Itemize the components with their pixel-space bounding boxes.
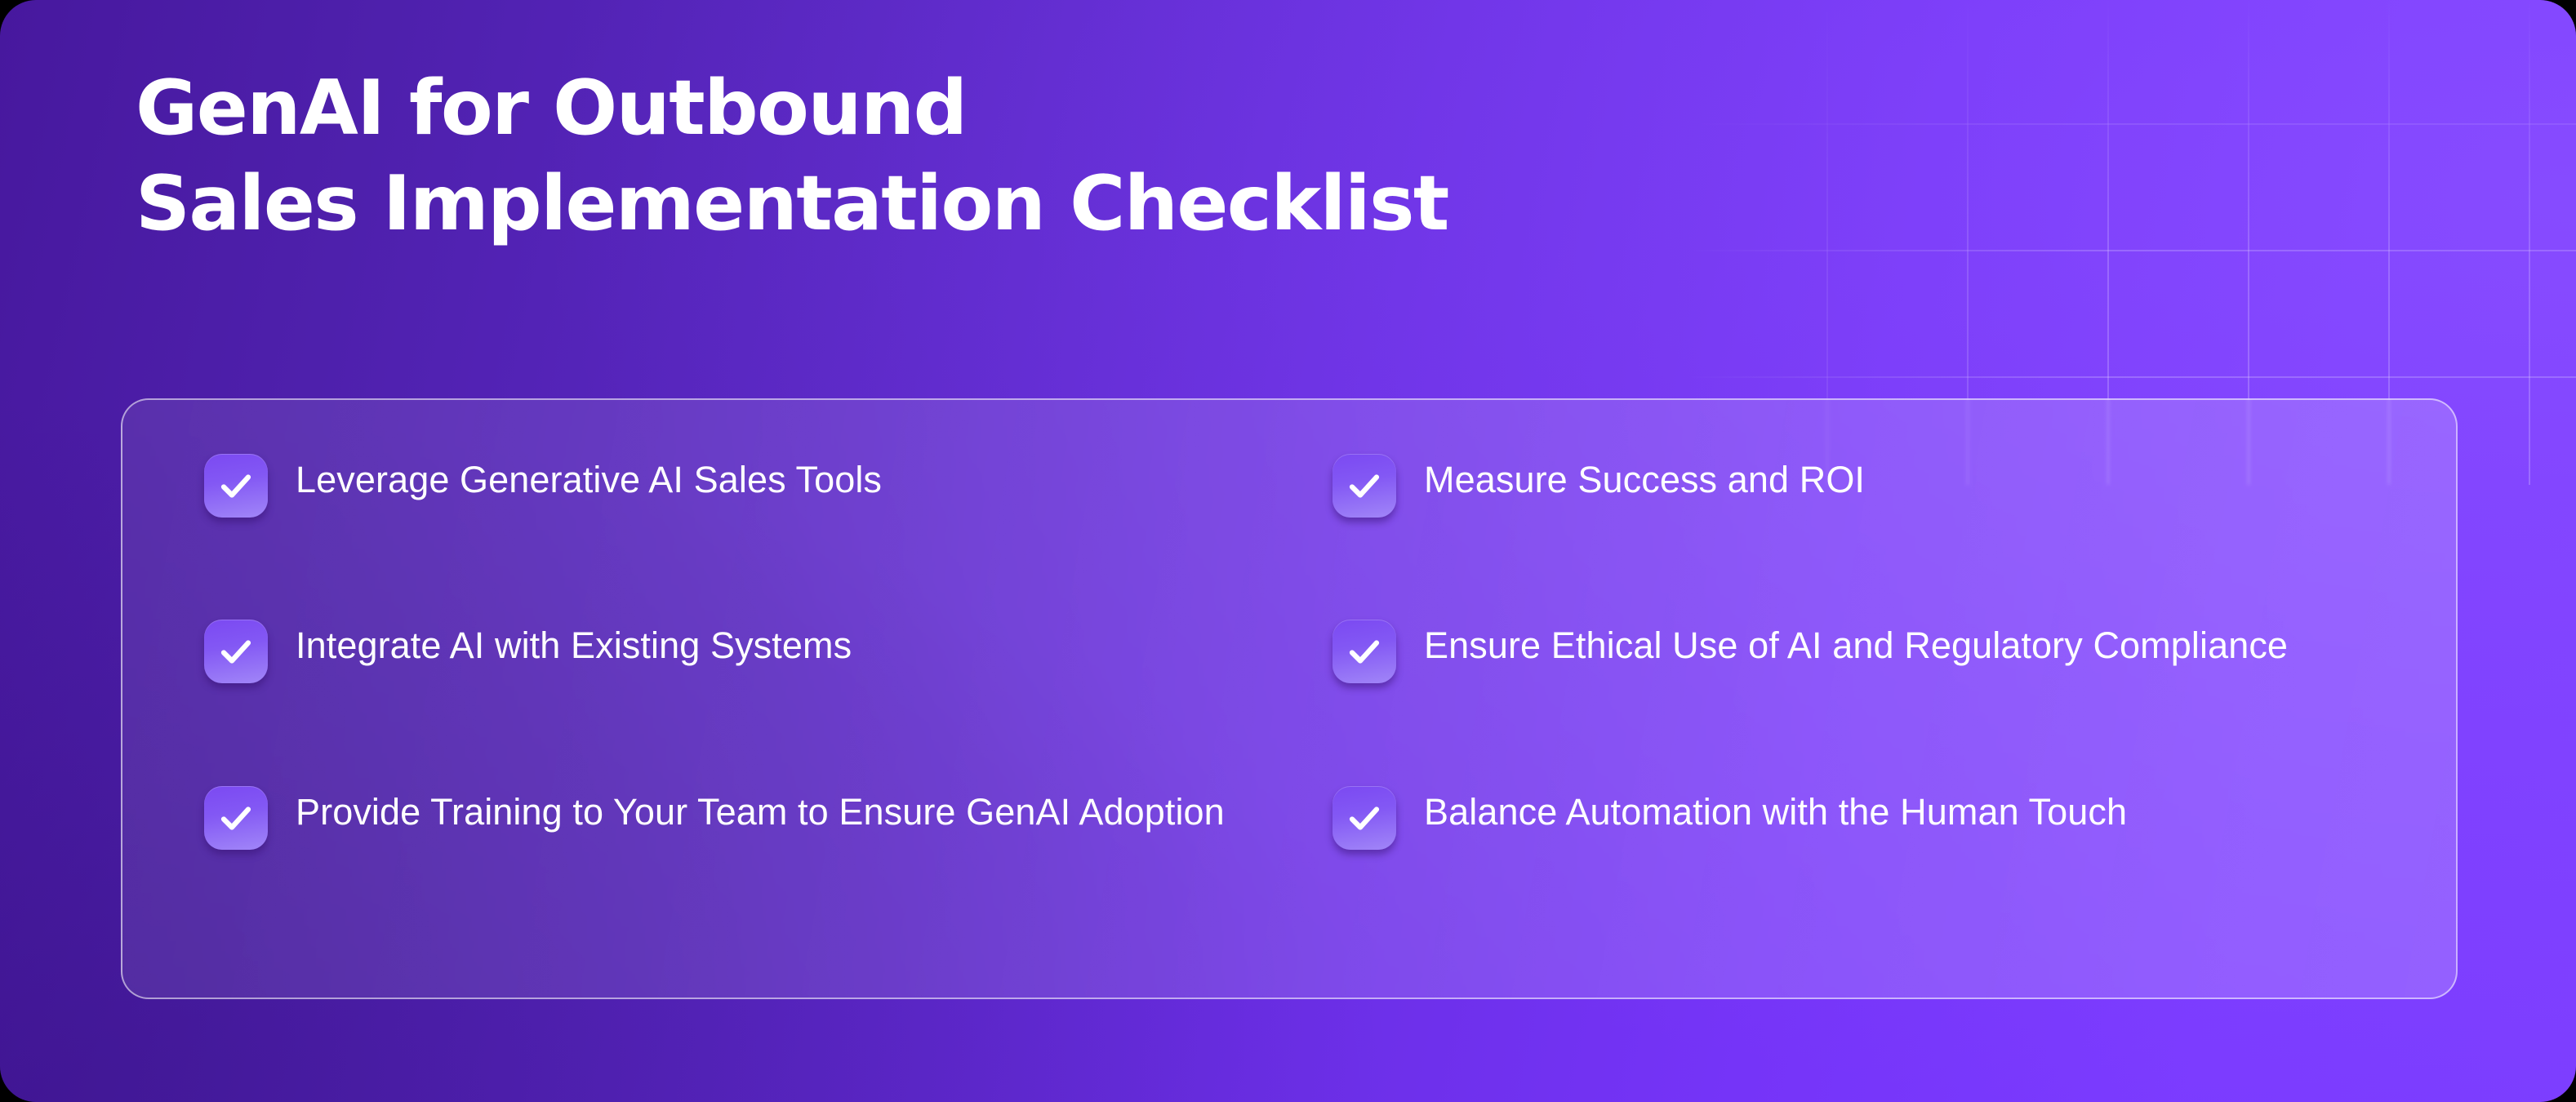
checkbox-wrapper[interactable]	[1332, 616, 1396, 683]
checkbox-wrapper[interactable]	[204, 783, 268, 850]
checkbox-wrapper[interactable]	[1332, 451, 1396, 518]
checklist-item-label: Measure Success and ROI	[1424, 451, 1865, 504]
checklist-item[interactable]: Measure Success and ROI	[1332, 451, 2410, 616]
check-icon[interactable]	[204, 786, 268, 850]
check-icon[interactable]	[1332, 454, 1396, 518]
checklist-item[interactable]: Balance Automation with the Human Touch	[1332, 783, 2410, 949]
checklist-item-label: Balance Automation with the Human Touch	[1424, 783, 2127, 836]
checklist-item-label: Leverage Generative AI Sales Tools	[296, 451, 882, 504]
page-title: GenAI for Outbound Sales Implementation …	[136, 70, 1932, 242]
page-title-line-2: Sales Implementation Checklist	[136, 166, 1932, 242]
check-icon[interactable]	[1332, 786, 1396, 850]
checkbox-wrapper[interactable]	[1332, 783, 1396, 850]
checkbox-wrapper[interactable]	[204, 616, 268, 683]
checklist-item[interactable]: Leverage Generative AI Sales Tools	[204, 451, 1282, 616]
check-icon[interactable]	[204, 454, 268, 518]
checklist-item-label: Provide Training to Your Team to Ensure …	[296, 783, 1225, 836]
checklist-card: Leverage Generative AI Sales Tools Measu…	[121, 398, 2458, 999]
page-title-line-1: GenAI for Outbound	[136, 70, 1932, 146]
checklist-item-label: Ensure Ethical Use of AI and Regulatory …	[1424, 616, 2288, 669]
checkbox-wrapper[interactable]	[204, 451, 268, 518]
checklist-item-label: Integrate AI with Existing Systems	[296, 616, 852, 669]
check-icon[interactable]	[204, 620, 268, 683]
checklist-item[interactable]: Provide Training to Your Team to Ensure …	[204, 783, 1282, 949]
check-icon[interactable]	[1332, 620, 1396, 683]
checklist-item[interactable]: Ensure Ethical Use of AI and Regulatory …	[1332, 616, 2410, 782]
checklist-banner: GenAI for Outbound Sales Implementation …	[0, 0, 2576, 1102]
checklist-item[interactable]: Integrate AI with Existing Systems	[204, 616, 1282, 782]
